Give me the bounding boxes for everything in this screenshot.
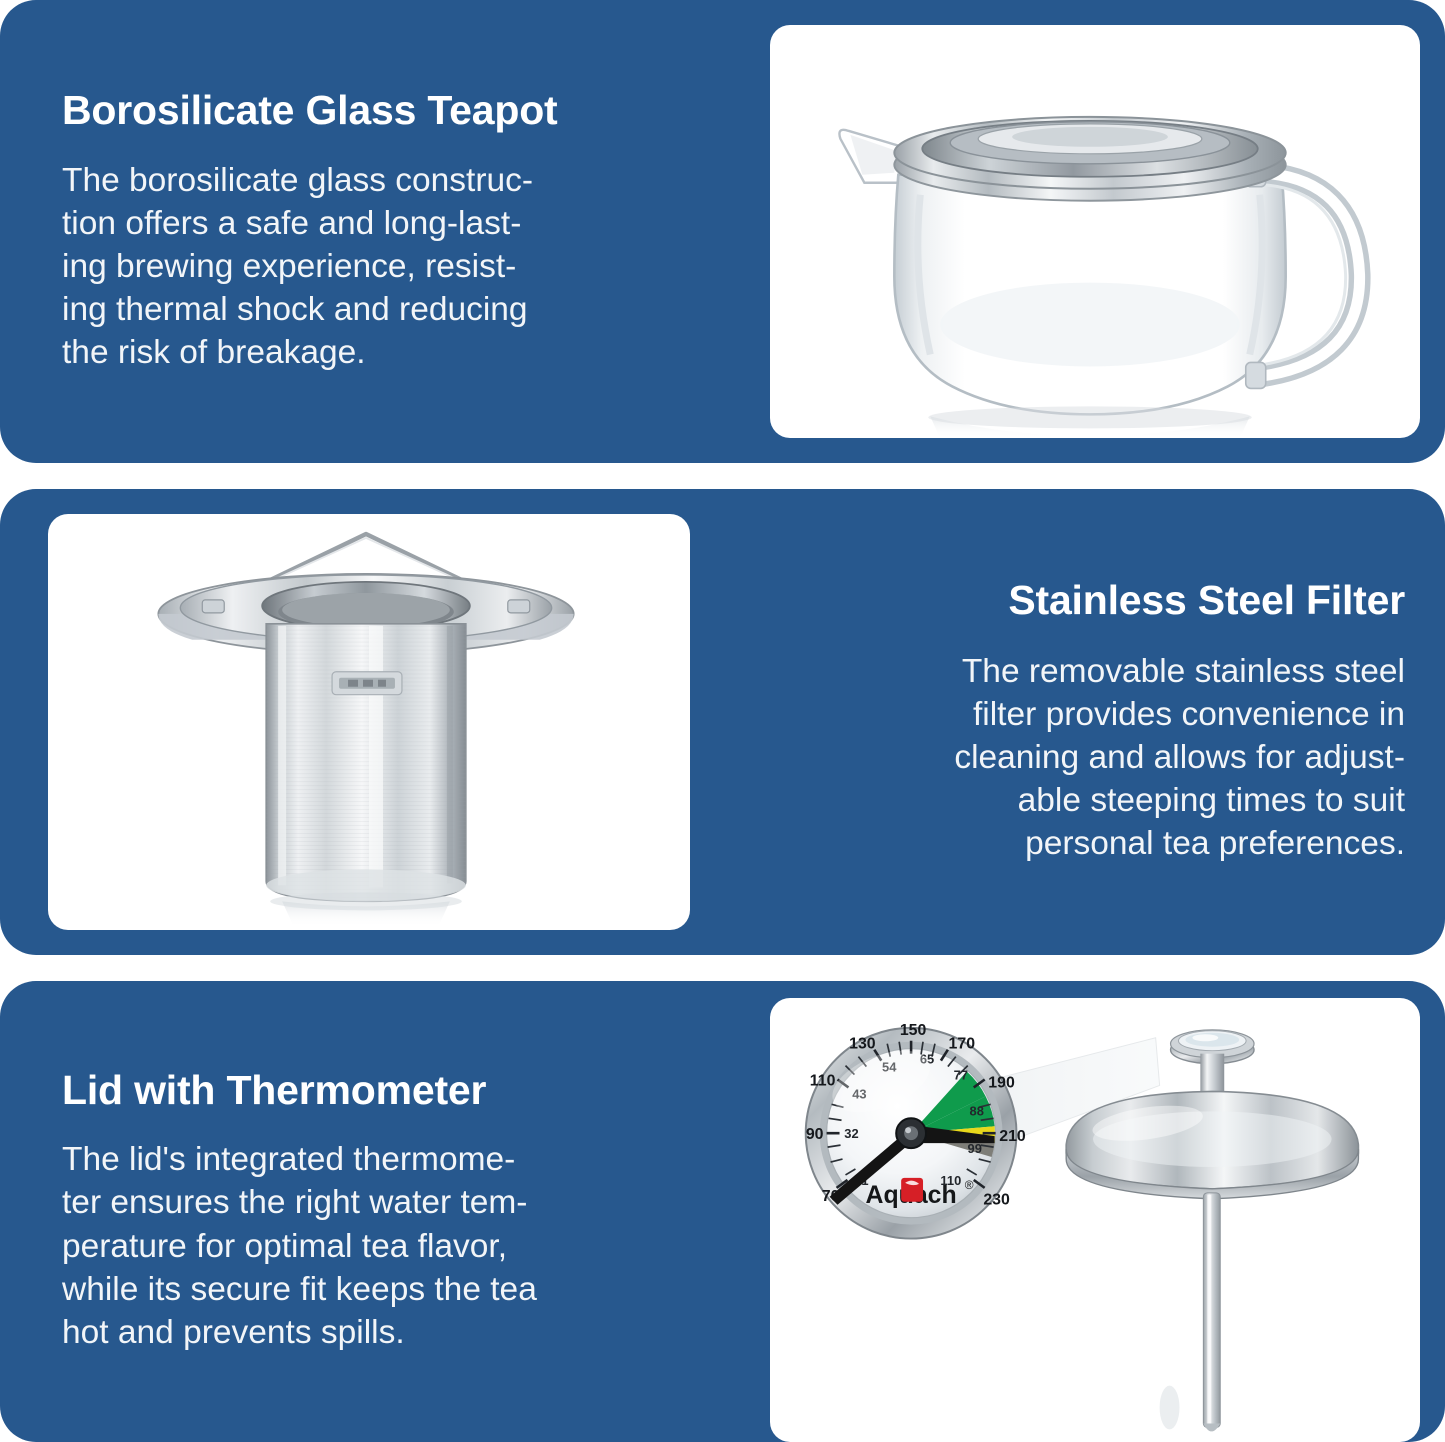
svg-text:150: 150 xyxy=(900,1021,927,1038)
body-line: able steeping times to suit xyxy=(954,779,1405,822)
lid-probe-stem xyxy=(1203,1192,1220,1427)
svg-text:99: 99 xyxy=(968,1141,982,1156)
panel-3-body: The lid's integrated thermome- ter ensur… xyxy=(62,1138,770,1353)
filter-reflection xyxy=(270,893,462,928)
panel-stainless-steel-filter: Stainless Steel Filter The removable sta… xyxy=(0,489,1445,954)
body-line: cleaning and allows for adjust- xyxy=(954,736,1405,779)
svg-text:110: 110 xyxy=(810,1072,836,1089)
lid-thermometer-photo-card: 70 90 110 130 150 170 190 210 230 xyxy=(770,998,1420,1442)
lid-thermometer-photo: 70 90 110 130 150 170 190 210 230 xyxy=(770,998,1420,1442)
panel-1-text-column: Borosilicate Glass Teapot The borosilica… xyxy=(0,0,770,463)
svg-text:190: 190 xyxy=(988,1074,1015,1091)
filter-logo-plate xyxy=(332,672,402,695)
thermometer-dial-magnified: 70 90 110 130 150 170 190 210 230 xyxy=(806,1021,1026,1238)
panel-3-headline: Lid with Thermometer xyxy=(62,1069,770,1112)
filter-handle-anchor-right xyxy=(508,600,530,613)
body-line: the risk of breakage. xyxy=(62,331,770,374)
body-line: tion offers a safe and long-last- xyxy=(62,202,770,245)
glass-teapot-photo xyxy=(770,25,1420,438)
steel-filter-photo xyxy=(48,514,690,929)
svg-text:88: 88 xyxy=(970,1103,984,1118)
svg-text:90: 90 xyxy=(806,1126,824,1143)
lid-thermometer-neck xyxy=(1200,1053,1224,1095)
teapot-reflection xyxy=(928,406,1251,438)
filter-handle-anchor-left xyxy=(202,600,224,613)
body-line: ter ensures the right water tem- xyxy=(62,1181,770,1224)
body-line: ing brewing experience, resist- xyxy=(62,245,770,288)
body-line: perature for optimal tea flavor, xyxy=(62,1225,770,1268)
teapot-steel-lid xyxy=(894,117,1285,201)
panel-2-text-column: Stainless Steel Filter The removable sta… xyxy=(690,489,1445,954)
body-line: personal tea preferences. xyxy=(954,822,1405,865)
svg-text:77: 77 xyxy=(954,1067,968,1082)
steel-filter-photo-card xyxy=(48,514,690,929)
body-line: ing thermal shock and reducing xyxy=(62,288,770,331)
body-line: hot and prevents spills. xyxy=(62,1311,770,1354)
panel-1-body: The borosilicate glass construc- tion of… xyxy=(62,159,770,374)
panel-3-image-column: 70 90 110 130 150 170 190 210 230 xyxy=(770,981,1445,1442)
panel-2-body: The removable stainless steel filter pro… xyxy=(954,650,1405,865)
svg-text:32: 32 xyxy=(844,1126,858,1141)
svg-text:230: 230 xyxy=(983,1191,1010,1208)
body-line: The lid's integrated thermome- xyxy=(62,1138,770,1181)
body-line: filter provides convenience in xyxy=(954,693,1405,736)
panel-3-text-column: Lid with Thermometer The lid's integrate… xyxy=(0,981,770,1442)
panel-2-headline: Stainless Steel Filter xyxy=(1008,579,1405,622)
glass-teapot-photo-card xyxy=(770,25,1420,438)
panel-1-image-column xyxy=(770,0,1445,463)
panel-lid-with-thermometer: Lid with Thermometer The lid's integrate… xyxy=(0,981,1445,1442)
svg-text:130: 130 xyxy=(849,1035,876,1052)
product-feature-infographic: Borosilicate Glass Teapot The borosilica… xyxy=(0,0,1445,1442)
body-line: The removable stainless steel xyxy=(954,650,1405,693)
body-line: while its secure fit keeps the tea xyxy=(62,1268,770,1311)
svg-text:170: 170 xyxy=(949,1035,976,1052)
svg-text:210: 210 xyxy=(999,1128,1026,1145)
dial-registered-mark: ® xyxy=(965,1178,974,1192)
panel-1-headline: Borosilicate Glass Teapot xyxy=(62,89,770,132)
panel-borosilicate-glass-teapot: Borosilicate Glass Teapot The borosilica… xyxy=(0,0,1445,463)
body-line: The borosilicate glass construc- xyxy=(62,159,770,202)
panel-2-image-column xyxy=(0,489,690,954)
filter-mesh-tube xyxy=(266,624,466,902)
